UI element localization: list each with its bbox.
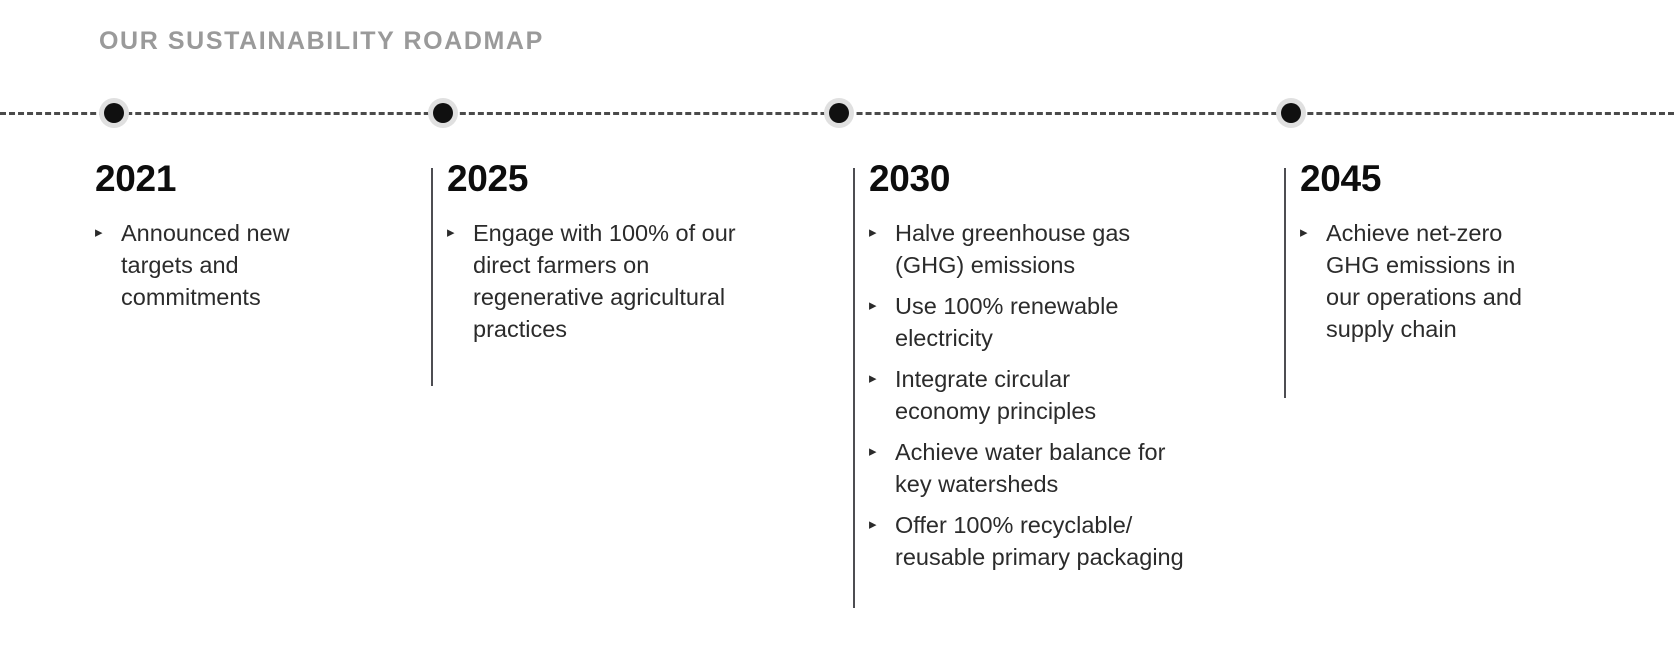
bullet-arrow-icon: ▸: [869, 290, 877, 322]
milestone-year-2030: 2030: [869, 160, 1195, 197]
timeline-dot-2045: [1276, 98, 1306, 128]
list-item-text: Use 100% renewable electricity: [895, 293, 1118, 351]
list-item-text: Integrate circular economy principles: [895, 366, 1096, 424]
timeline-dot-2021: [99, 98, 129, 128]
milestone-year-2045: 2045: [1300, 160, 1531, 197]
milestone-year-2025: 2025: [447, 160, 763, 197]
bullet-arrow-icon: ▸: [869, 436, 877, 468]
timeline-axis: [0, 112, 1674, 115]
milestone-list-2045: ▸ Achieve net-zero GHG emissions in our …: [1300, 217, 1531, 345]
bullet-arrow-icon: ▸: [95, 217, 103, 249]
timeline-dot-2030: [824, 98, 854, 128]
list-item-text: Achieve water balance for key watersheds: [895, 439, 1165, 497]
milestone-list-2025: ▸ Engage with 100% of our direct farmers…: [447, 217, 763, 345]
list-item: ▸ Engage with 100% of our direct farmers…: [447, 217, 763, 345]
list-item: ▸ Use 100% renewable electricity: [869, 290, 1180, 354]
list-item: ▸ Announced new targets and commitments: [95, 217, 351, 313]
page-title: OUR SUSTAINABILITY ROADMAP: [99, 27, 544, 56]
sustainability-roadmap-infographic: OUR SUSTAINABILITY ROADMAP 2021 ▸ Announ…: [0, 0, 1674, 663]
list-item-text: Engage with 100% of our direct farmers o…: [473, 220, 736, 342]
milestone-list-2021: ▸ Announced new targets and commitments: [95, 217, 351, 313]
list-item: ▸ Integrate circular economy principles: [869, 363, 1160, 427]
timeline-dot-2025: [428, 98, 458, 128]
milestone-divider-2030: [853, 168, 855, 608]
bullet-arrow-icon: ▸: [447, 217, 455, 249]
list-item-text: Achieve net-zero GHG emissions in our op…: [1326, 220, 1522, 342]
bullet-arrow-icon: ▸: [869, 217, 877, 249]
list-item-text: Offer 100% recyclable/ reusable primary …: [895, 512, 1184, 570]
milestone-list-2030: ▸ Halve greenhouse gas (GHG) emissions ▸…: [869, 217, 1195, 573]
list-item: ▸ Halve greenhouse gas (GHG) emissions: [869, 217, 1195, 281]
list-item: ▸ Achieve water balance for key watershe…: [869, 436, 1195, 500]
milestone-year-2021: 2021: [95, 160, 351, 197]
list-item-text: Halve greenhouse gas (GHG) emissions: [895, 220, 1130, 278]
bullet-arrow-icon: ▸: [1300, 217, 1308, 249]
list-item: ▸ Offer 100% recyclable/ reusable primar…: [869, 509, 1185, 573]
bullet-arrow-icon: ▸: [869, 509, 877, 541]
milestone-divider-2045: [1284, 168, 1286, 398]
list-item: ▸ Achieve net-zero GHG emissions in our …: [1300, 217, 1531, 345]
list-item-text: Announced new targets and commitments: [121, 220, 290, 310]
milestone-divider-2025: [431, 168, 433, 386]
bullet-arrow-icon: ▸: [869, 363, 877, 395]
